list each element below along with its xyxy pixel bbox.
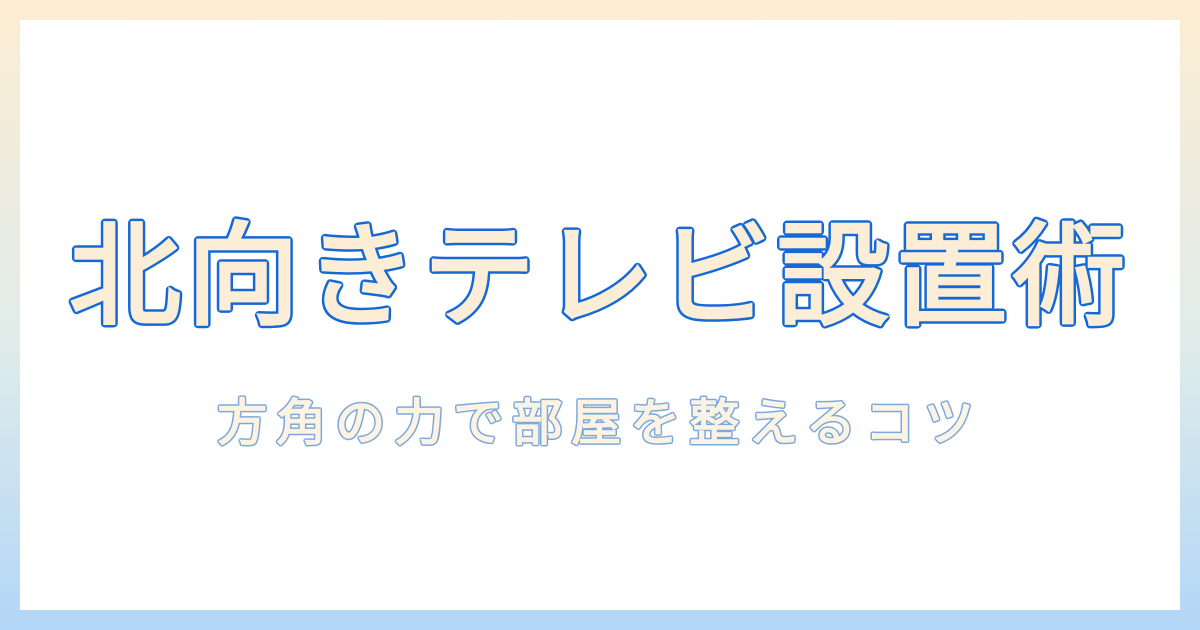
- page-title: 北向きテレビ設置術: [69, 212, 1131, 342]
- page-subtitle: 方角の力で部屋を整えるコツ: [217, 394, 983, 452]
- content-card: 北向きテレビ設置術 北向きテレビ設置術 方角の力で部屋を整えるコツ 方角の力で部…: [20, 20, 1180, 610]
- headline-block: 北向きテレビ設置術 北向きテレビ設置術 方角の力で部屋を整えるコツ 方角の力で部…: [20, 20, 1180, 610]
- poster-canvas: 北向きテレビ設置術 北向きテレビ設置術 方角の力で部屋を整えるコツ 方角の力で部…: [0, 0, 1200, 630]
- typography-artwork: 北向きテレビ設置術 北向きテレビ設置術 方角の力で部屋を整えるコツ 方角の力で部…: [20, 20, 1180, 610]
